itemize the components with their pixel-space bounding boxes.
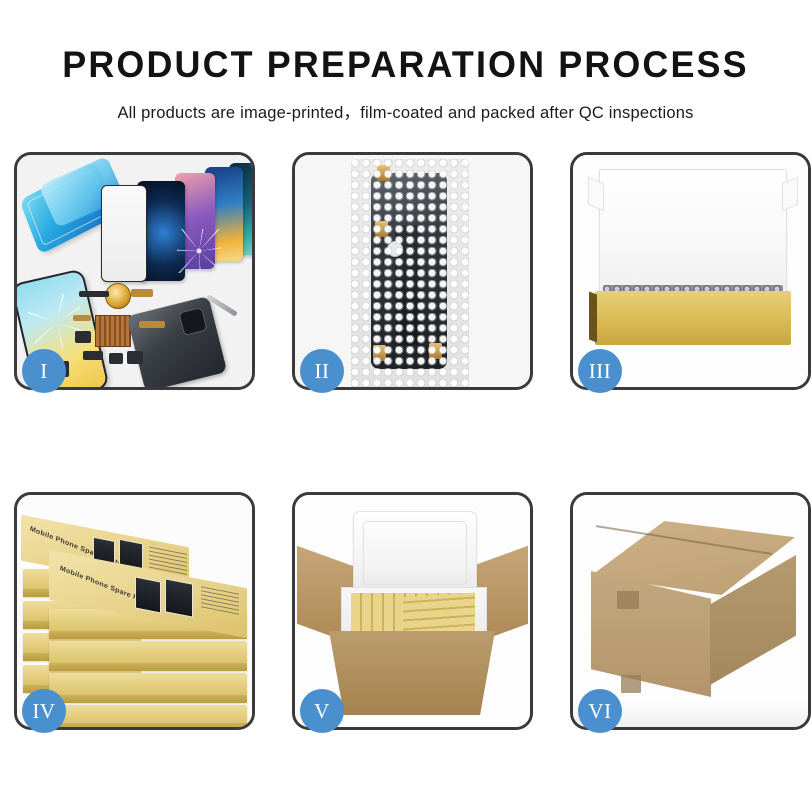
carton-tape-upper: [617, 591, 639, 609]
retail-box-spec-text-front: [201, 583, 239, 614]
phone-screen-white: [101, 185, 147, 282]
retail-box-stack: Mobile Phone Spare Parts Mobile Phone Sp…: [21, 513, 251, 718]
cracked-glass-icon: [177, 229, 221, 273]
flex-cable-1: [131, 289, 153, 297]
retail-box-front-2: [49, 641, 247, 671]
bubble-wrap-bag: [351, 159, 469, 387]
part-connector-3: [109, 353, 123, 364]
speaker-coil-icon: [105, 283, 131, 309]
phone-screen-stack: [101, 163, 251, 283]
page-header: PRODUCT PREPARATION PROCESS All products…: [0, 0, 811, 123]
retail-box-front-3: [49, 673, 247, 703]
bubble-texture: [351, 159, 469, 387]
page-subtitle: All products are image-printed，film-coat…: [0, 86, 811, 123]
foam-lid: [353, 511, 477, 595]
process-step-panel-1: I: [14, 152, 255, 390]
phone-back-housing: [127, 296, 227, 387]
retail-box-product-image-4: [165, 578, 193, 617]
process-step-panel-4: Mobile Phone Spare Parts Mobile Phone Sp…: [14, 492, 255, 730]
process-step-panel-3: III: [570, 152, 811, 390]
step-badge-3: III: [578, 349, 622, 393]
part-camera-module: [127, 351, 143, 364]
process-step-panel-2: II: [292, 152, 533, 390]
retail-box-front-4: [49, 705, 247, 727]
part-connector-2: [83, 351, 103, 360]
process-step-panel-6: VI: [570, 492, 811, 730]
step-badge-2: II: [300, 349, 344, 393]
retail-box-product-image-3: [135, 576, 161, 613]
shipping-carton-open: [329, 631, 495, 715]
step-badge-6: VI: [578, 689, 622, 733]
flex-cable-3: [73, 315, 91, 321]
chip-array-icon: [95, 315, 131, 347]
step-badge-4: IV: [22, 689, 66, 733]
step-badge-5: V: [300, 689, 344, 733]
flex-cable-2: [139, 321, 165, 328]
part-strip-1: [79, 291, 109, 297]
gold-boxes-in-foam-secondary: [403, 592, 475, 637]
step-badge-1: I: [22, 349, 66, 393]
process-step-panel-5: V: [292, 492, 533, 730]
part-connector-1: [75, 331, 91, 343]
kraft-box-tray: [595, 291, 791, 345]
page-title: PRODUCT PREPARATION PROCESS: [12, 0, 799, 86]
process-step-grid: I II III: [14, 152, 807, 730]
carton-tape-lower: [621, 675, 641, 693]
